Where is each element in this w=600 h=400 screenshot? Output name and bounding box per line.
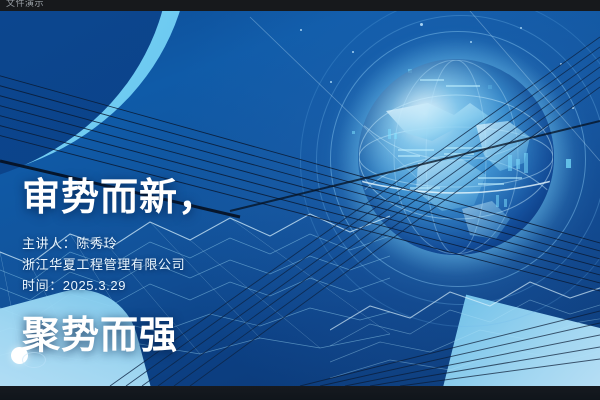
presentation-window: 文件演示	[0, 0, 600, 400]
slide-title-line-2: 聚势而强	[22, 313, 217, 359]
window-titlebar: 文件演示	[0, 0, 600, 11]
slide-title-line-1: 审势而新，	[22, 175, 217, 221]
company-line: 浙江华夏工程管理有限公司	[22, 254, 185, 275]
titlebar-label: 文件演示	[6, 0, 44, 9]
white-dot-ring	[22, 352, 46, 368]
slide-subtitle-block: 主讲人：陈秀玲 浙江华夏工程管理有限公司 时间：2025.3.29	[22, 233, 185, 296]
date-line: 时间：2025.3.29	[22, 275, 185, 296]
slide-canvas: 审势而新， 聚势而强 主讲人：陈秀玲 浙江华夏工程管理有限公司 时间：2025.…	[0, 11, 600, 386]
window-statusbar	[0, 386, 600, 400]
presenter-line: 主讲人：陈秀玲	[22, 233, 185, 254]
